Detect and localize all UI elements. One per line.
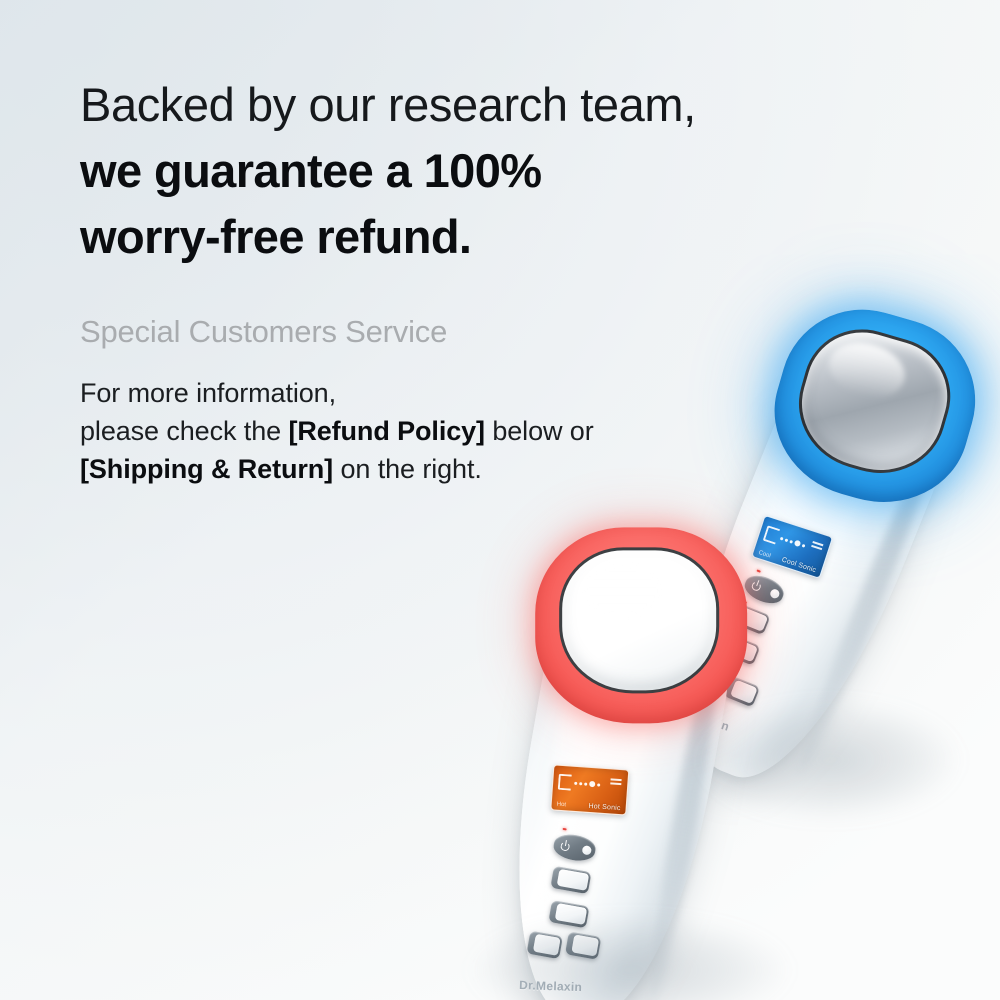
device-shadow-cool: [700, 700, 960, 820]
page-title: Backed by our research team, we guarante…: [80, 74, 696, 268]
body-line-2: please check the [Refund Policy] below o…: [80, 412, 696, 450]
power-button-cap: [582, 845, 592, 855]
body-text: For more information, please check the […: [80, 374, 696, 488]
hot-device-head: [535, 527, 747, 723]
copy-block: Backed by our research team, we guarante…: [80, 74, 696, 488]
hot-treatment-plate: [559, 547, 719, 693]
subtitle: Special Customers Service: [80, 314, 696, 350]
body-line-3-suffix: on the right.: [333, 454, 482, 484]
body-line-3: [Shipping & Return] on the right.: [80, 450, 696, 488]
body-line-2-suffix: below or: [485, 416, 594, 446]
hot-lcd-label: Hot Sonic: [588, 803, 621, 812]
mode-button-cap: [557, 869, 589, 891]
body-line-1: For more information,: [80, 374, 696, 412]
plate-gloss: [581, 562, 664, 618]
lcd-level-dots: [574, 780, 600, 788]
headline-line-1: Backed by our research team,: [80, 74, 696, 136]
power-icon: [560, 841, 570, 851]
hot-lcd-mode: Hot: [557, 802, 567, 809]
body-line-2-prefix: please check the: [80, 416, 288, 446]
hot-lcd-display: Hot Hot Sonic: [550, 764, 629, 815]
headline-line-3: worry-free refund.: [80, 206, 696, 268]
promo-banner: Backed by our research team, we guarante…: [0, 0, 1000, 1000]
headline-line-2: we guarantee a 100%: [80, 140, 696, 202]
lcd-bracket-icon: [558, 774, 572, 791]
refund-policy-link[interactable]: [Refund Policy]: [288, 416, 485, 446]
shipping-return-link[interactable]: [Shipping & Return]: [80, 454, 333, 484]
plate-gloss: [823, 334, 911, 406]
lcd-signal-bars-icon: [610, 778, 622, 787]
